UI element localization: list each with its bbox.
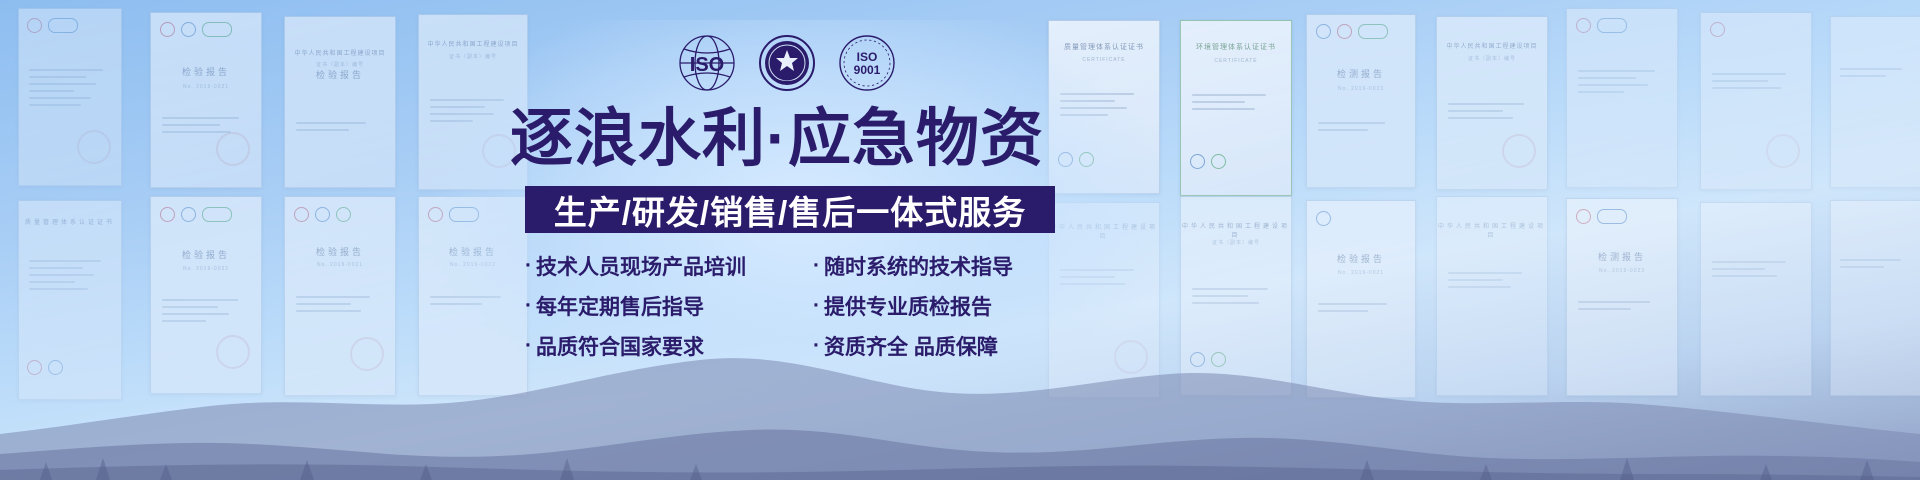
certificate-title: 检测报告 (1307, 67, 1415, 80)
iso-badge: ISO (676, 32, 738, 94)
feature-label: 随时系统的技术指导 (824, 251, 1013, 281)
certificate-title: 中华人民共和国工程建设项目 (419, 39, 527, 48)
certificate-title: 中华人民共和国工程建设项目 (1437, 221, 1547, 239)
feature-label: 技术人员现场产品培训 (536, 251, 746, 281)
feature-item: · 提供专业质检报告 (813, 291, 1065, 321)
svg-text:9001: 9001 (854, 63, 881, 77)
certificate-subtitle: CERTIFICATE (1049, 57, 1159, 63)
certificate-subtitle: No. 2019-0022 (151, 266, 261, 272)
feature-item: · 技术人员现场产品培训 (525, 251, 813, 281)
bullet-icon: · (813, 334, 820, 358)
feature-label: 提供专业质检报告 (824, 291, 992, 321)
feature-row: · 每年定期售后指导 · 提供专业质检报告 (525, 286, 1065, 326)
feature-label: 资质齐全 品质保障 (824, 331, 998, 361)
certificate-thumb: 检验报告 No. 2019-0021 (150, 12, 262, 188)
certificate-title: 质量管理体系认证证书 (19, 217, 121, 226)
certificate-title: 检验报告 (151, 65, 261, 78)
certificate-subtitle: CERTIFICATE (1181, 58, 1291, 64)
certificate-title: 质量管理体系认证证书 (1049, 42, 1159, 52)
certificate-title: 中华人民共和国工程建设项目 (1181, 221, 1291, 239)
bullet-icon: · (813, 254, 820, 278)
bullet-icon: · (525, 254, 532, 278)
promo-banner: 检验报告 No. 2019-0021 中华人民共和国工程建设项目 证书（副本）编… (0, 0, 1920, 480)
certificate-subtitle: 证书（副本）编号 (1437, 55, 1547, 62)
certificate-subtitle: 证书（副本）编号 (1181, 239, 1291, 246)
quality-badge (756, 32, 818, 94)
bullet-icon: · (525, 334, 532, 358)
certificate-title: 检验报告 (285, 68, 395, 81)
certificate-subtitle: No. 2019-0023 (1307, 86, 1415, 92)
certificate-thumb (18, 8, 122, 186)
certificate-thumb (1830, 16, 1920, 188)
certificate-thumb (1566, 8, 1678, 188)
certificate-thumb: 中华人民共和国工程建设项目 证书（副本）编号 (1436, 16, 1548, 190)
certificate-title: 检验报告 (419, 245, 527, 258)
certificate-thumb: 检测报告 No. 2019-0023 (1306, 14, 1416, 188)
certificate-title: 检验报告 (151, 248, 261, 261)
certificate-subtitle: No. 2019-0022 (419, 262, 527, 268)
certificate-thumb: 中华人民共和国工程建设项目 证书（副本）编号 检验报告 (284, 16, 396, 188)
certificate-subtitle: No. 2019-0021 (1307, 270, 1415, 276)
feature-label: 每年定期售后指导 (536, 291, 704, 321)
feature-list: · 技术人员现场产品培训 · 随时系统的技术指导 · 每年定期售后指导 · 提供… (525, 246, 1065, 366)
certificate-title: 检验报告 (1307, 252, 1415, 265)
subtitle-text: 生产/研发/销售/售后一体式服务 (554, 186, 1027, 234)
bullet-icon: · (525, 294, 532, 318)
feature-item: · 品质符合国家要求 (525, 331, 813, 361)
certificate-thumb: 环境管理体系认证证书 CERTIFICATE (1180, 20, 1292, 196)
certification-badges: ISO ISO 9001 (676, 32, 898, 94)
subtitle-bar: 生产/研发/销售/售后一体式服务 (525, 186, 1055, 233)
iso9001-badge: ISO 9001 (836, 32, 898, 94)
page-title: 逐浪水利·应急物资 (510, 103, 1070, 175)
certificate-title: 环境管理体系认证证书 (1181, 42, 1291, 52)
certificate-subtitle: No. 2019-0021 (285, 262, 395, 268)
svg-text:ISO: ISO (857, 50, 878, 64)
feature-row: · 技术人员现场产品培训 · 随时系统的技术指导 (525, 246, 1065, 286)
certificate-subtitle: 证书（副本）编号 (419, 53, 527, 60)
certificate-title: 检验报告 (285, 245, 395, 258)
iso-badge-label: ISO (690, 54, 724, 76)
certificate-subtitle: No. 2019-0023 (1567, 268, 1677, 274)
certificate-thumb (1700, 12, 1812, 190)
certificate-title: 中华人民共和国工程建设项目 (285, 48, 395, 57)
feature-item: · 资质齐全 品质保障 (813, 331, 1065, 361)
certificate-title: 中华人民共和国工程建设项目 (1049, 222, 1159, 240)
bullet-icon: · (813, 294, 820, 318)
feature-label: 品质符合国家要求 (536, 331, 704, 361)
feature-item: · 随时系统的技术指导 (813, 251, 1065, 281)
certificate-title: 中华人民共和国工程建设项目 (1437, 41, 1547, 50)
certificate-subtitle: No. 2019-0021 (151, 84, 261, 90)
certificate-title: 检测报告 (1567, 250, 1677, 263)
feature-row: · 品质符合国家要求 · 资质齐全 品质保障 (525, 326, 1065, 366)
feature-item: · 每年定期售后指导 (525, 291, 813, 321)
